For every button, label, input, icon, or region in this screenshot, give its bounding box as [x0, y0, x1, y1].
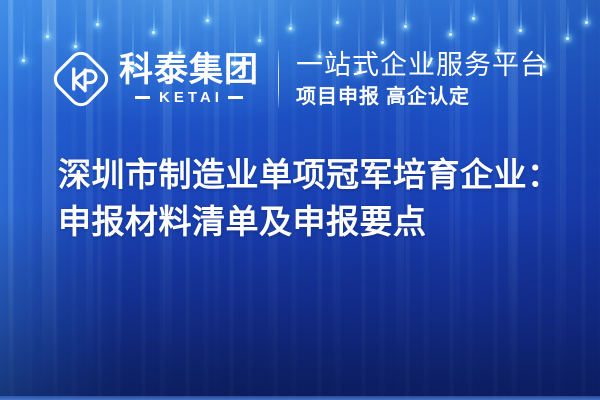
ketai-kp-diamond-logo-icon	[52, 50, 110, 108]
brand-wordmark: 科泰集团 KETAI	[119, 53, 259, 105]
brand-name-en: KETAI	[155, 90, 223, 105]
brand-name-en-row: KETAI	[135, 90, 243, 105]
wordmark-dash-right	[228, 96, 243, 99]
promo-banner: 科泰集团 KETAI 一站式企业服务平台 项目申报 高企认定 深圳市制造业单项冠…	[0, 0, 600, 400]
brand-name-cn: 科泰集团	[119, 53, 259, 87]
brand-logo: 科泰集团 KETAI	[52, 50, 259, 108]
tagline-block: 一站式企业服务平台 项目申报 高企认定	[296, 50, 548, 107]
page-title-line-1: 深圳市制造业单项冠军培育企业：	[58, 152, 568, 199]
banner-header: 科泰集团 KETAI 一站式企业服务平台 项目申报 高企认定	[0, 40, 600, 118]
page-title-line-2: 申报材料清单及申报要点	[58, 199, 568, 246]
page-title: 深圳市制造业单项冠军培育企业： 申报材料清单及申报要点	[58, 152, 568, 246]
vertical-divider	[278, 50, 279, 108]
wordmark-dash-left	[135, 96, 150, 99]
tagline-sub: 项目申报 高企认定	[296, 86, 548, 108]
bottom-edge-line	[0, 396, 600, 400]
tagline-main: 一站式企业服务平台	[296, 50, 548, 80]
